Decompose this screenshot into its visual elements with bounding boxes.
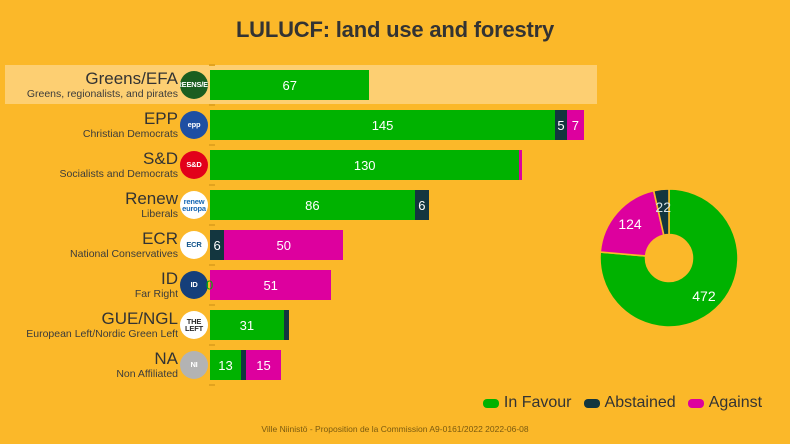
axis-tick xyxy=(209,104,215,106)
bar-segment-abstained[interactable]: 6 xyxy=(415,190,429,220)
bar-row[interactable]: Greens/EFAGreens, regionalists, and pira… xyxy=(0,65,790,105)
bar-segment-value: 6 xyxy=(418,198,425,213)
chart-canvas: LULUCF: land use and forestry Greens/EFA… xyxy=(0,0,790,444)
footer-credit: Ville Niinistö - Proposition de la Commi… xyxy=(0,424,790,434)
bar-segment-in-favour[interactable]: 13 xyxy=(210,350,241,380)
bar-segment-value: 5 xyxy=(557,118,564,133)
donut-slice-label: 472 xyxy=(692,288,715,304)
stacked-bar: 67 xyxy=(210,70,369,100)
group-name: Greens/EFA xyxy=(85,70,178,88)
group-label-block: NANon Affiliated xyxy=(0,345,178,385)
bar-segment-value: 31 xyxy=(240,318,254,333)
stacked-bar: 650 xyxy=(210,230,343,260)
group-description: European Left/Nordic Green Left xyxy=(26,328,178,340)
axis-tick xyxy=(209,384,215,386)
group-description: Non Affiliated xyxy=(116,368,178,380)
bar-segment-in-favour[interactable]: 145 xyxy=(210,110,555,140)
legend-swatch-against-icon xyxy=(688,399,704,408)
axis-tick xyxy=(209,304,215,306)
bar-segment-value: 0 xyxy=(206,278,213,293)
bar-segment-in-favour[interactable]: 130 xyxy=(210,150,519,180)
legend-label: In Favour xyxy=(504,394,572,412)
group-description: Christian Democrats xyxy=(83,128,178,140)
legend-label: Abstained xyxy=(605,394,676,412)
group-label-block: EPPChristian Democrats xyxy=(0,105,178,145)
party-logo-text: ECR xyxy=(180,231,208,259)
bar-segment-value: 13 xyxy=(218,358,232,373)
group-name: S&D xyxy=(143,150,178,168)
party-logo-text: NI xyxy=(180,351,208,379)
bar-segment-in-favour[interactable]: 31 xyxy=(210,310,284,340)
stacked-bar: 866 xyxy=(210,190,429,220)
legend-swatch-abstained-icon xyxy=(584,399,600,408)
legend-label: Against xyxy=(709,394,762,412)
donut-slice-label: 22 xyxy=(655,199,671,215)
group-label-block: GUE/NGLEuropean Left/Nordic Green Left xyxy=(0,305,178,345)
bar-segment-against[interactable]: 51 xyxy=(210,270,331,300)
group-name: GUE/NGL xyxy=(101,310,178,328)
bar-segment-abstained[interactable]: 6 xyxy=(210,230,224,260)
bar-segment-value: 86 xyxy=(305,198,319,213)
bar-segment-against[interactable] xyxy=(519,150,522,180)
bar-segment-against[interactable]: 50 xyxy=(224,230,343,260)
axis-tick xyxy=(209,224,215,226)
page-title: LULUCF: land use and forestry xyxy=(0,17,790,43)
axis-tick xyxy=(209,144,215,146)
donut-slice-label: 124 xyxy=(618,216,641,232)
bar-segment-value: 145 xyxy=(372,118,394,133)
party-logo-text: renew europa xyxy=(180,191,208,219)
group-description: National Conservatives xyxy=(70,248,178,260)
party-logo-icon: renew europa xyxy=(180,191,208,219)
group-name: ECR xyxy=(142,230,178,248)
party-logo-icon: S&D xyxy=(180,151,208,179)
bar-segment-value: 51 xyxy=(263,278,277,293)
party-logo-icon: GREENS/EFA xyxy=(180,71,208,99)
party-logo-icon: THE LEFT xyxy=(180,311,208,339)
group-label-block: RenewLiberals xyxy=(0,185,178,225)
stacked-bar: 051 xyxy=(210,270,331,300)
party-logo-icon: ECR xyxy=(180,231,208,259)
legend-item[interactable]: In Favour xyxy=(483,394,572,412)
party-logo-text: THE LEFT xyxy=(180,311,208,339)
legend: In FavourAbstainedAgainst xyxy=(455,394,790,412)
legend-item[interactable]: Abstained xyxy=(584,394,676,412)
party-logo-text: epp xyxy=(180,111,208,139)
group-description: Greens, regionalists, and pirates xyxy=(27,88,178,100)
donut-chart: 47212422 xyxy=(596,185,742,331)
bar-row[interactable]: NANon AffiliatedNI1315 xyxy=(0,345,790,385)
bar-segment-value: 67 xyxy=(282,78,296,93)
stacked-bar: 14557 xyxy=(210,110,584,140)
bar-segment-in-favour[interactable]: 67 xyxy=(210,70,369,100)
party-logo-icon: epp xyxy=(180,111,208,139)
group-description: Far Right xyxy=(135,288,178,300)
group-label-block: ECRNational Conservatives xyxy=(0,225,178,265)
stacked-bar: 1315 xyxy=(210,350,281,380)
party-logo-text: ID xyxy=(180,271,208,299)
group-label-block: S&DSocialists and Democrats xyxy=(0,145,178,185)
bar-segment-value: 130 xyxy=(354,158,376,173)
bar-segment-against[interactable]: 7 xyxy=(567,110,584,140)
legend-item[interactable]: Against xyxy=(688,394,762,412)
axis-tick xyxy=(209,64,215,66)
bar-segment-in-favour[interactable]: 86 xyxy=(210,190,415,220)
bar-row[interactable]: S&DSocialists and DemocratsS&D130 xyxy=(0,145,790,185)
group-label-block: IDFar Right xyxy=(0,265,178,305)
stacked-bar: 31 xyxy=(210,310,289,340)
legend-swatch-in-favour-icon xyxy=(483,399,499,408)
bar-segment-value: 7 xyxy=(572,118,579,133)
group-name: Renew xyxy=(125,190,178,208)
group-description: Liberals xyxy=(141,208,178,220)
bar-segment-value: 50 xyxy=(277,238,291,253)
group-name: ID xyxy=(161,270,178,288)
party-logo-text: GREENS/EFA xyxy=(180,71,208,99)
bar-segment-abstained[interactable]: 5 xyxy=(555,110,567,140)
party-logo-icon: ID xyxy=(180,271,208,299)
group-name: NA xyxy=(154,350,178,368)
stacked-bar: 130 xyxy=(210,150,522,180)
bar-segment-against[interactable]: 15 xyxy=(246,350,282,380)
axis-tick xyxy=(209,264,215,266)
group-name: EPP xyxy=(144,110,178,128)
bar-row[interactable]: EPPChristian Democratsepp14557 xyxy=(0,105,790,145)
party-logo-icon: NI xyxy=(180,351,208,379)
bar-segment-value: 15 xyxy=(256,358,270,373)
bar-segment-abstained[interactable] xyxy=(284,310,289,340)
party-logo-text: S&D xyxy=(180,151,208,179)
group-label-block: Greens/EFAGreens, regionalists, and pira… xyxy=(0,65,178,105)
bar-segment-value: 6 xyxy=(214,238,221,253)
group-description: Socialists and Democrats xyxy=(60,168,178,180)
axis-tick xyxy=(209,344,215,346)
axis-tick xyxy=(209,184,215,186)
